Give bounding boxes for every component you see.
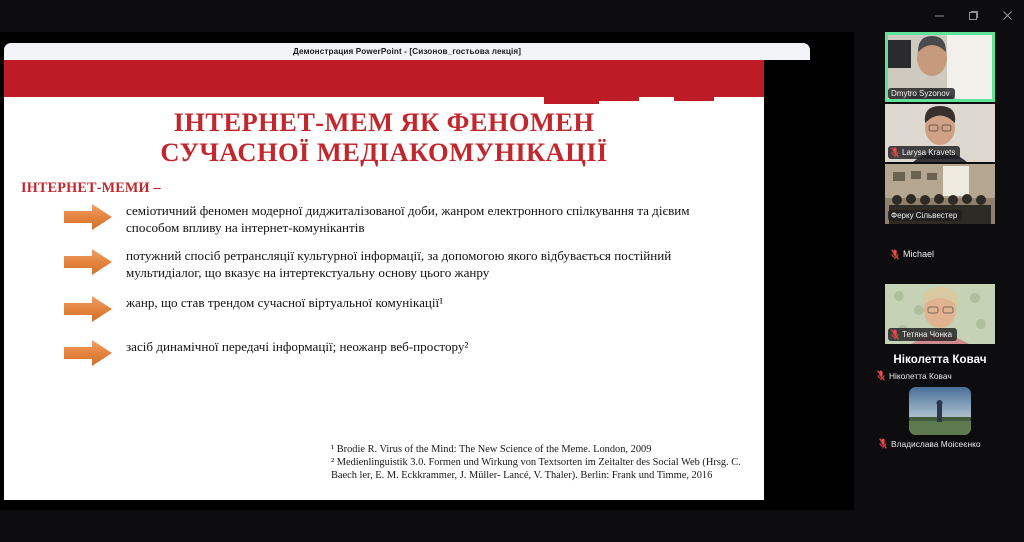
participant-name: Тетяна Чонка (902, 330, 952, 339)
participant-video[interactable]: Тетяна Чонка (885, 284, 995, 344)
window-controls (922, 0, 1024, 30)
avatar-photo (909, 387, 971, 435)
participant-tile[interactable]: Larysa Kravets (885, 104, 995, 162)
close-button[interactable] (990, 0, 1024, 30)
footnote-2: ² Medienlinguistik 3.0. Formen und Wirku… (331, 456, 761, 482)
participant-video[interactable]: Ферку Сільвестер (885, 164, 995, 224)
mic-muted-icon (891, 249, 899, 260)
name-chip: Тетяна Чонка (888, 328, 957, 341)
bullet-text: потужний спосіб ретрансляції культурної … (126, 247, 744, 281)
participant-name: Ніколетта Ковач (889, 371, 952, 381)
maximize-button[interactable] (956, 0, 990, 30)
name-chip: Владислава Моісеєнко (875, 438, 1009, 449)
list-item: жанр, що став трендом сучасної віртуальн… (64, 294, 744, 322)
slide-bullet-list: семіотичний феномен модерної диджиталізо… (64, 202, 744, 373)
list-item: засіб динамічної передачі інформації; не… (64, 338, 744, 366)
powerpoint-title-text: Демонстрация PowerPoint - [Сизонов_гость… (293, 47, 521, 56)
slide-title: ІНТЕРНЕТ-МЕМ ЯК ФЕНОМЕН СУЧАСНОЇ МЕДІАКО… (4, 108, 764, 168)
arrow-right-icon (64, 340, 112, 366)
minimize-button[interactable] (922, 0, 956, 30)
participant-tile[interactable]: Dmytro Syzonov (885, 32, 995, 102)
participant-tile[interactable]: Тетяна Чонка (885, 284, 995, 344)
active-speaker-name: Ніколетта Ковач (865, 354, 1015, 366)
arrow-right-icon (64, 296, 112, 322)
participant-video[interactable]: Dmytro Syzonov (885, 32, 995, 102)
participant-tile[interactable]: Владислава Моісеєнко (875, 387, 1005, 449)
arrow-right-icon (64, 204, 112, 230)
arrow-right-icon (64, 249, 112, 275)
bullet-text: засіб динамічної передачі інформації; не… (126, 338, 468, 355)
list-item: потужний спосіб ретрансляції культурної … (64, 247, 744, 281)
skyline-decoration-icon (544, 90, 764, 106)
mic-muted-icon (891, 329, 899, 340)
participant-name: Dmytro Syzonov (891, 89, 950, 98)
slide-lead-in-text: ІНТЕРНЕТ-МЕМИ – (21, 180, 161, 197)
shared-screen-region[interactable]: Демонстрация PowerPoint - [Сизонов_гость… (0, 32, 854, 510)
participant-name: Larysa Kravets (902, 148, 955, 157)
participant-tile[interactable]: Michael (885, 226, 995, 282)
participant-camera-off[interactable]: Michael (885, 226, 995, 282)
bullet-text: семіотичний феномен модерної диджиталізо… (126, 202, 744, 236)
participant-rail[interactable]: Dmytro Syzonov (856, 32, 1024, 542)
mic-muted-icon (879, 438, 887, 449)
slide-title-line-2: СУЧАСНОЇ МЕДІАКОМУНІКАЦІЇ (4, 138, 764, 168)
bullet-text: жанр, що став трендом сучасної віртуальн… (126, 294, 443, 311)
participant-video[interactable]: Larysa Kravets (885, 104, 995, 162)
meeting-window: Демонстрация PowerPoint - [Сизонов_гость… (0, 0, 1024, 542)
list-item: семіотичний феномен модерної диджиталізо… (64, 202, 744, 236)
name-chip: Larysa Kravets (888, 146, 960, 159)
participant-name: Владислава Моісеєнко (891, 439, 981, 449)
slide-title-line-1: ІНТЕРНЕТ-МЕМ ЯК ФЕНОМЕН (4, 108, 764, 138)
participant-name: Michael (903, 249, 934, 259)
participant-tile[interactable]: Ферку Сільвестер (885, 164, 995, 224)
powerpoint-titlebar: Демонстрация PowerPoint - [Сизонов_гость… (4, 43, 810, 60)
avatar (909, 387, 971, 435)
name-chip: Dmytro Syzonov (888, 88, 955, 99)
mic-muted-icon (891, 147, 899, 158)
participant-name: Ферку Сільвестер (891, 211, 957, 220)
participant-tile[interactable]: Ніколетта Ковач (873, 370, 1007, 381)
powerpoint-slide[interactable]: ІНТЕРНЕТ-МЕМ ЯК ФЕНОМЕН СУЧАСНОЇ МЕДІАКО… (4, 60, 764, 500)
mic-muted-icon (877, 370, 885, 381)
footnote-1: ¹ Brodie R. Virus of the Mind: The New S… (331, 443, 761, 456)
slide-footnotes: ¹ Brodie R. Virus of the Mind: The New S… (331, 443, 761, 482)
name-chip: Ферку Сільвестер (888, 210, 962, 221)
